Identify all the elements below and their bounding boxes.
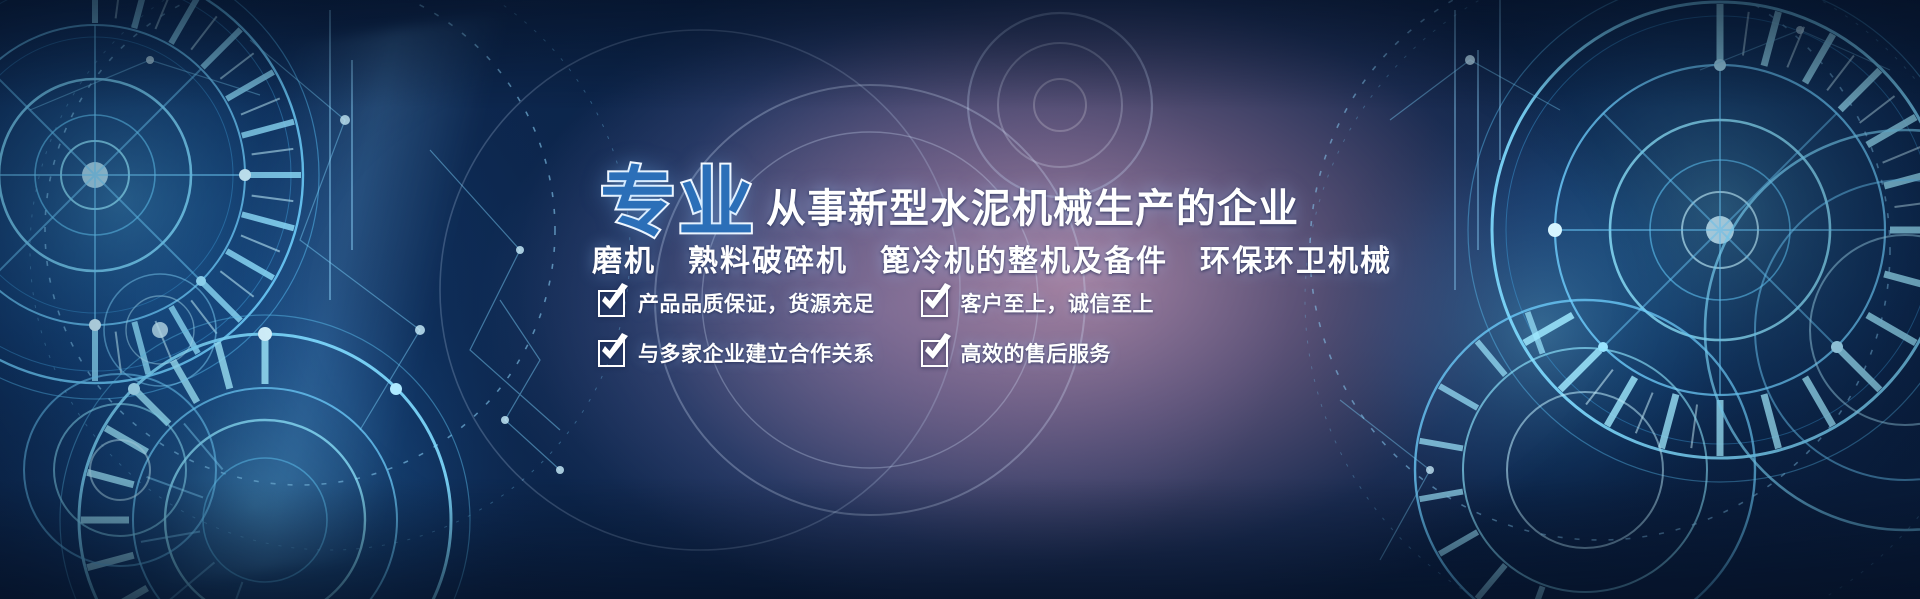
headline-emphasis: 专业	[600, 168, 756, 240]
feature-item: 客户至上，诚信至上	[921, 288, 1155, 318]
feature-label: 产品品质保证，货源充足	[638, 288, 875, 318]
feature-item: 与多家企业建立合作关系	[598, 338, 875, 368]
feature-label: 与多家企业建立合作关系	[638, 338, 875, 368]
check-icon	[921, 290, 948, 317]
check-icon	[598, 290, 625, 317]
feature-item: 产品品质保证，货源充足	[598, 288, 875, 318]
banner-content: 专业 从事新型水泥机械生产的企业 磨机 熟料破碎机 篦冷机的整机及备件 环保环卫…	[0, 0, 1920, 599]
feature-label: 客户至上，诚信至上	[961, 288, 1155, 318]
check-icon	[921, 340, 948, 367]
check-icon	[598, 340, 625, 367]
product-subline: 磨机 熟料破碎机 篦冷机的整机及备件 环保环卫机械	[592, 236, 1392, 280]
feature-item: 高效的售后服务	[921, 338, 1155, 368]
headline: 专业 从事新型水泥机械生产的企业	[600, 168, 1299, 240]
hero-banner: 专业 从事新型水泥机械生产的企业 磨机 熟料破碎机 篦冷机的整机及备件 环保环卫…	[0, 0, 1920, 599]
feature-label: 高效的售后服务	[961, 338, 1112, 368]
feature-list: 产品品质保证，货源充足 客户至上，诚信至上 与多家企业建立合作关系	[598, 288, 1154, 368]
headline-rest: 从事新型水泥机械生产的企业	[766, 176, 1299, 234]
